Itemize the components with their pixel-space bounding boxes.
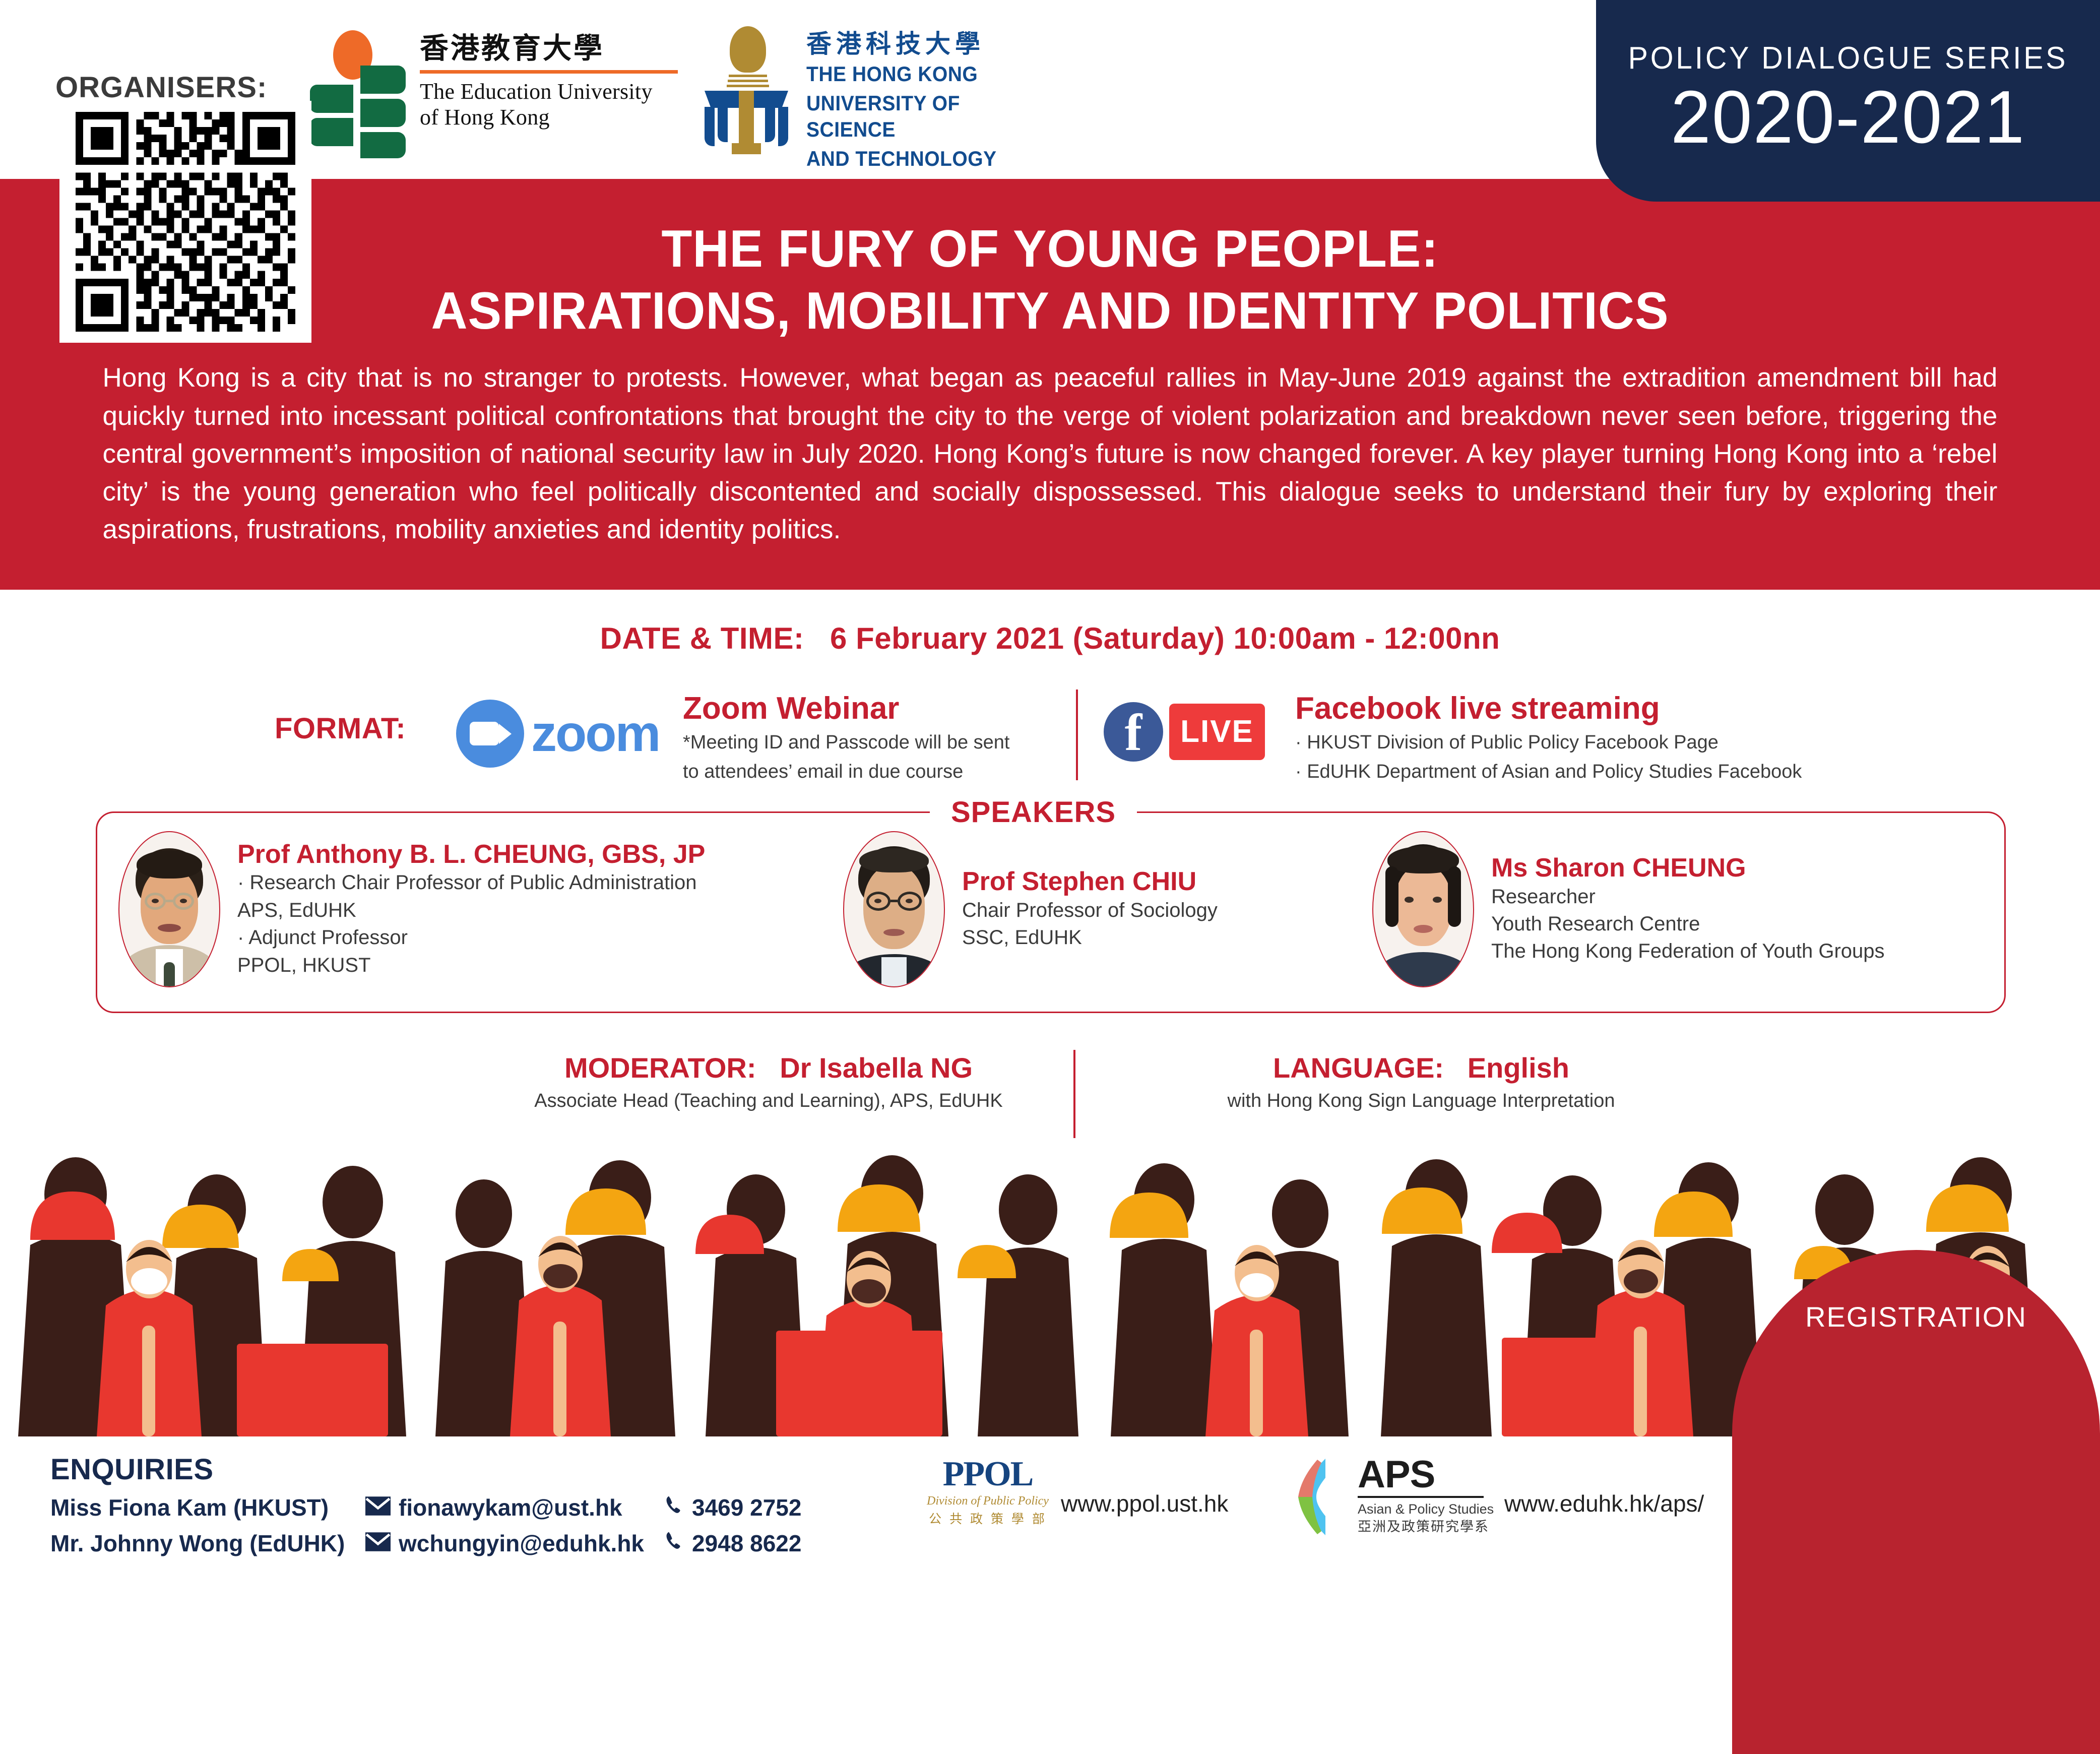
enquiries-contact-list: Miss Fiona Kam (HKUST) fionawykam@ust.hk… [50,1490,801,1562]
hkust-logo-mark [701,26,791,147]
speaker-detail-line: SSC, EdUHK [962,924,1218,951]
speaker-card: Ms Sharon CHEUNG Researcher Youth Resear… [1372,831,1885,987]
speaker-info: Prof Stephen CHIU Chair Professor of Soc… [962,867,1218,951]
ppol-logo: PPOL Division of Public Policy 公 共 政 策 學… [922,1457,1053,1528]
speaker-card: Prof Anthony B. L. CHEUNG, GBS, JP · Res… [118,831,705,987]
contact-phone: 2948 8622 [663,1526,801,1561]
eduhk-divider [420,70,678,74]
speakers-panel: Prof Anthony B. L. CHEUNG, GBS, JP · Res… [96,811,2006,1013]
contact-email-text: fionawykam@ust.hk [399,1490,622,1526]
aps-wordmark: APS [1358,1457,1494,1493]
envelope-icon [365,1526,391,1561]
facebook-details: Facebook live streaming · HKUST Division… [1295,692,2001,785]
language-label: LANGUAGE: [1273,1052,1444,1084]
format-row: FORMAT: zoom Zoom Webinar *Meeting ID an… [0,685,2100,796]
speaker-detail-line: The Hong Kong Federation of Youth Groups [1491,937,1885,965]
page-title-line2: ASPIRATIONS, MOBILITY AND IDENTITY POLIT… [42,280,2058,342]
language-block: LANGUAGE: English with Hong Kong Sign La… [1099,1051,1744,1114]
speaker-name: Ms Sharon CHEUNG [1491,853,1885,883]
contact-row: Miss Fiona Kam (HKUST) fionawykam@ust.hk… [50,1490,801,1526]
language-note: with Hong Kong Sign Language Interpretat… [1099,1089,1744,1113]
eduhk-logo-mark [310,30,406,146]
aps-chinese-name: 亞洲及政策研究學系 [1358,1518,1494,1536]
poster-root: ORGANISERS: 香港教育大學 The Education Univers… [0,0,2100,1575]
speakers-section-label: SPEAKERS [930,795,1137,829]
hero-description: Hong Kong is a city that is no stranger … [103,359,1998,548]
policy-dialogue-series-panel: POLICY DIALOGUE SERIES 2020-2021 [1596,0,2100,202]
format-label: FORMAT: [275,712,406,745]
registration-qr-code[interactable] [59,101,311,343]
facebook-icon: f [1104,702,1163,762]
language-heading: LANGUAGE: English [1099,1051,1744,1085]
moderator-heading: MODERATOR: Dr Isabella NG [484,1051,1053,1085]
speaker-name: Prof Anthony B. L. CHEUNG, GBS, JP [237,840,705,869]
zoom-note-line1: *Meeting ID and Passcode will be sent [683,730,1086,755]
phone-icon [663,1526,684,1561]
aps-url[interactable]: www.eduhk.hk/aps/ [1504,1490,1704,1517]
speaker-info: Prof Anthony B. L. CHEUNG, GBS, JP · Res… [237,840,705,979]
series-years: 2020-2021 [1604,80,2092,155]
aps-divider [1358,1496,1484,1498]
zoom-camera-icon [456,700,524,768]
ppol-chinese-name: 公 共 政 策 學 部 [922,1510,1053,1528]
zoom-details: Zoom Webinar *Meeting ID and Passcode wi… [683,692,1086,785]
registration-panel: REGISTRATION [1732,1250,2100,1754]
speaker-detail-line: Chair Professor of Sociology [962,897,1218,924]
phone-icon [663,1490,684,1526]
moderator-affiliation: Associate Head (Teaching and Learning), … [484,1089,1053,1113]
date-time-label: DATE & TIME: [600,621,804,655]
contact-email-text: wchungyin@eduhk.hk [399,1526,644,1561]
speaker-info: Ms Sharon CHEUNG Researcher Youth Resear… [1491,853,1885,965]
speaker-card: Prof Stephen CHIU Chair Professor of Soc… [843,831,1218,987]
facebook-page-item-2: · EdUHK Department of Asian and Policy S… [1295,759,2001,784]
contact-name: Mr. Johnny Wong (EdUHK) [50,1526,365,1561]
aps-logo-text: APS Asian & Policy Studies 亞洲及政策研究學系 [1358,1457,1494,1536]
contact-row: Mr. Johnny Wong (EdUHK) wchungyin@eduhk.… [50,1526,801,1561]
zoom-wordmark: zoom [531,708,659,759]
moderator-label: MODERATOR: [564,1052,756,1084]
page-title-line1: THE FURY OF YOUNG PEOPLE: [42,218,2058,280]
avatar [843,831,945,987]
eduhk-logo: 香港教育大學 The Education University of Hong … [310,19,683,150]
moderator-name: Dr Isabella NG [780,1052,973,1084]
organisers-label: ORGANISERS: [55,71,267,104]
registration-title: REGISTRATION [1732,1300,2100,1333]
speaker-detail-line: APS, EdUHK [237,897,705,924]
speaker-detail-line: · Adjunct Professor [237,924,705,951]
eduhk-logo-text: 香港教育大學 The Education University of Hong … [420,34,682,130]
eduhk-english-name-line2: of Hong Kong [420,104,682,130]
eduhk-english-name-line1: The Education University [420,79,682,104]
eduhk-chinese-name: 香港教育大學 [420,34,682,63]
moderator-language-row: MODERATOR: Dr Isabella NG Associate Head… [0,1046,2100,1142]
speaker-detail-line: · Research Chair Professor of Public Adm… [237,869,705,896]
contact-phone: 3469 2752 [663,1490,801,1526]
contact-email[interactable]: fionawykam@ust.hk [365,1490,663,1526]
live-badge: LIVE [1169,704,1265,760]
contact-email[interactable]: wchungyin@eduhk.hk [365,1526,663,1561]
contact-name: Miss Fiona Kam (HKUST) [50,1490,365,1526]
enquiries-title: ENQUIRIES [50,1453,214,1486]
zoom-heading: Zoom Webinar [683,692,1086,726]
page-title: THE FURY OF YOUNG PEOPLE: ASPIRATIONS, M… [42,179,2058,342]
facebook-live-logo: f LIVE [1104,698,1270,766]
language-value: English [1468,1052,1569,1084]
facebook-page-item-1: · HKUST Division of Public Policy Facebo… [1295,730,2001,755]
format-divider [1076,690,1078,780]
moderator-block: MODERATOR: Dr Isabella NG Associate Head… [484,1051,1053,1114]
hkust-logo-text: 香港科技大學 THE HONG KONG UNIVERSITY OF SCIEN… [806,30,1063,172]
contact-phone-text: 2948 8622 [692,1526,801,1561]
zoom-note-line2: to attendees’ email in due course [683,759,1086,784]
envelope-icon [365,1490,391,1526]
speaker-detail-line: PPOL, HKUST [237,952,705,979]
avatar [118,831,220,987]
hkust-english-name-line3: AND TECHNOLOGY [806,146,1045,172]
hkust-logo: 香港科技大學 THE HONG KONG UNIVERSITY OF SCIEN… [701,17,1063,153]
avatar [1372,831,1474,987]
ppol-wordmark: PPOL [922,1457,1053,1492]
hero-banner: THE FURY OF YOUNG PEOPLE: ASPIRATIONS, M… [0,179,2100,590]
moderator-language-divider [1073,1050,1075,1138]
hkust-chinese-name: 香港科技大學 [806,30,1063,58]
hkust-english-name-line1: THE HONG KONG [806,61,1045,87]
date-time-value: 6 February 2021 (Saturday) 10:00am - 12:… [830,621,1500,655]
ppol-url[interactable]: www.ppol.ust.hk [1061,1490,1228,1517]
speaker-name: Prof Stephen CHIU [962,867,1218,896]
facebook-heading: Facebook live streaming [1295,692,2001,726]
contact-phone-text: 3469 2752 [692,1490,801,1526]
hkust-english-name-line2: UNIVERSITY OF SCIENCE [806,90,1045,143]
aps-logo: APS Asian & Policy Studies 亞洲及政策研究學系 [1295,1457,1507,1537]
aps-logo-mark [1295,1457,1351,1537]
speaker-detail-line: Youth Research Centre [1491,910,1885,937]
speaker-detail-line: Researcher [1491,883,1885,910]
date-time-row: DATE & TIME: 6 February 2021 (Saturday) … [0,621,2100,656]
ppol-tagline: Division of Public Policy [922,1492,1053,1510]
aps-english-name: Asian & Policy Studies [1358,1501,1494,1518]
series-kicker: POLICY DIALOGUE SERIES [1609,40,2087,76]
zoom-logo: zoom [456,696,653,771]
